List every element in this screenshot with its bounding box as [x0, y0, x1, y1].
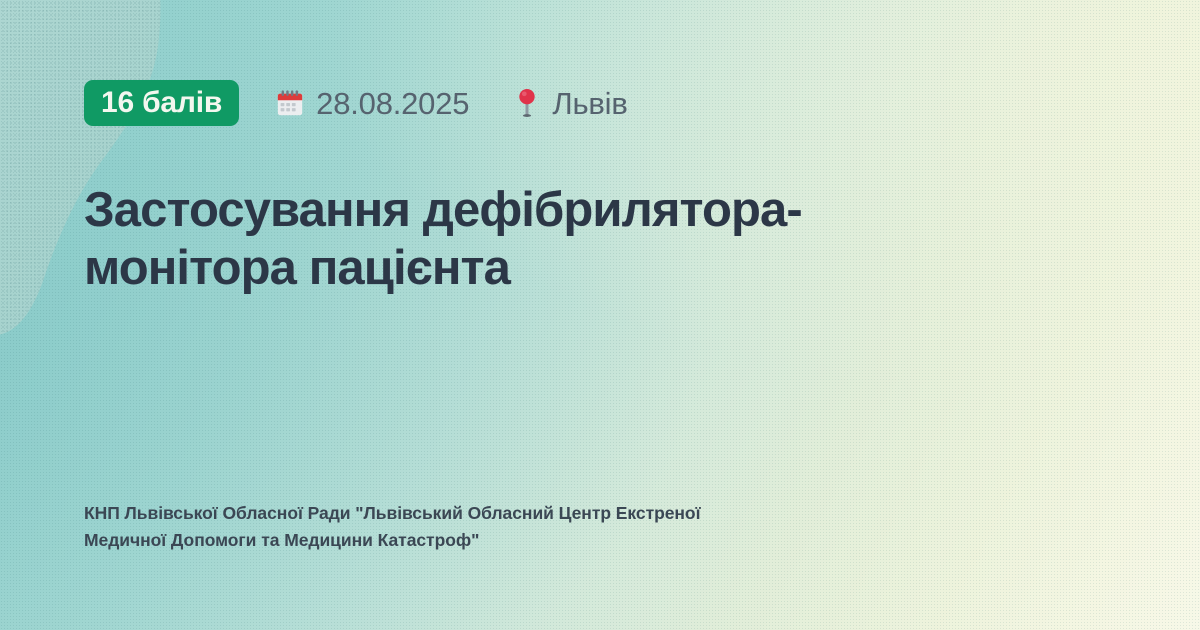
- event-date: 28.08.2025: [275, 88, 469, 119]
- calendar-icon: [275, 88, 305, 118]
- points-badge: 16 балів: [84, 80, 239, 126]
- poster-content: 16 балів: [84, 0, 1114, 630]
- organizer-line-2: Медичної Допомоги та Медицини Катастроф": [84, 527, 914, 554]
- page-title: Застосування дефібрилятора-монітора паці…: [84, 182, 984, 298]
- event-location-label: Львів: [552, 88, 627, 119]
- event-poster: 16 балів: [0, 0, 1200, 630]
- organizer-line-1: КНП Львівської Обласної Ради "Львівський…: [84, 500, 914, 527]
- event-location: Львів: [513, 88, 627, 119]
- map-pin-icon: [513, 88, 541, 118]
- event-date-label: 28.08.2025: [316, 88, 469, 119]
- organizer-block: КНП Львівської Обласної Ради "Львівський…: [84, 500, 914, 553]
- meta-row: 16 балів: [84, 80, 628, 126]
